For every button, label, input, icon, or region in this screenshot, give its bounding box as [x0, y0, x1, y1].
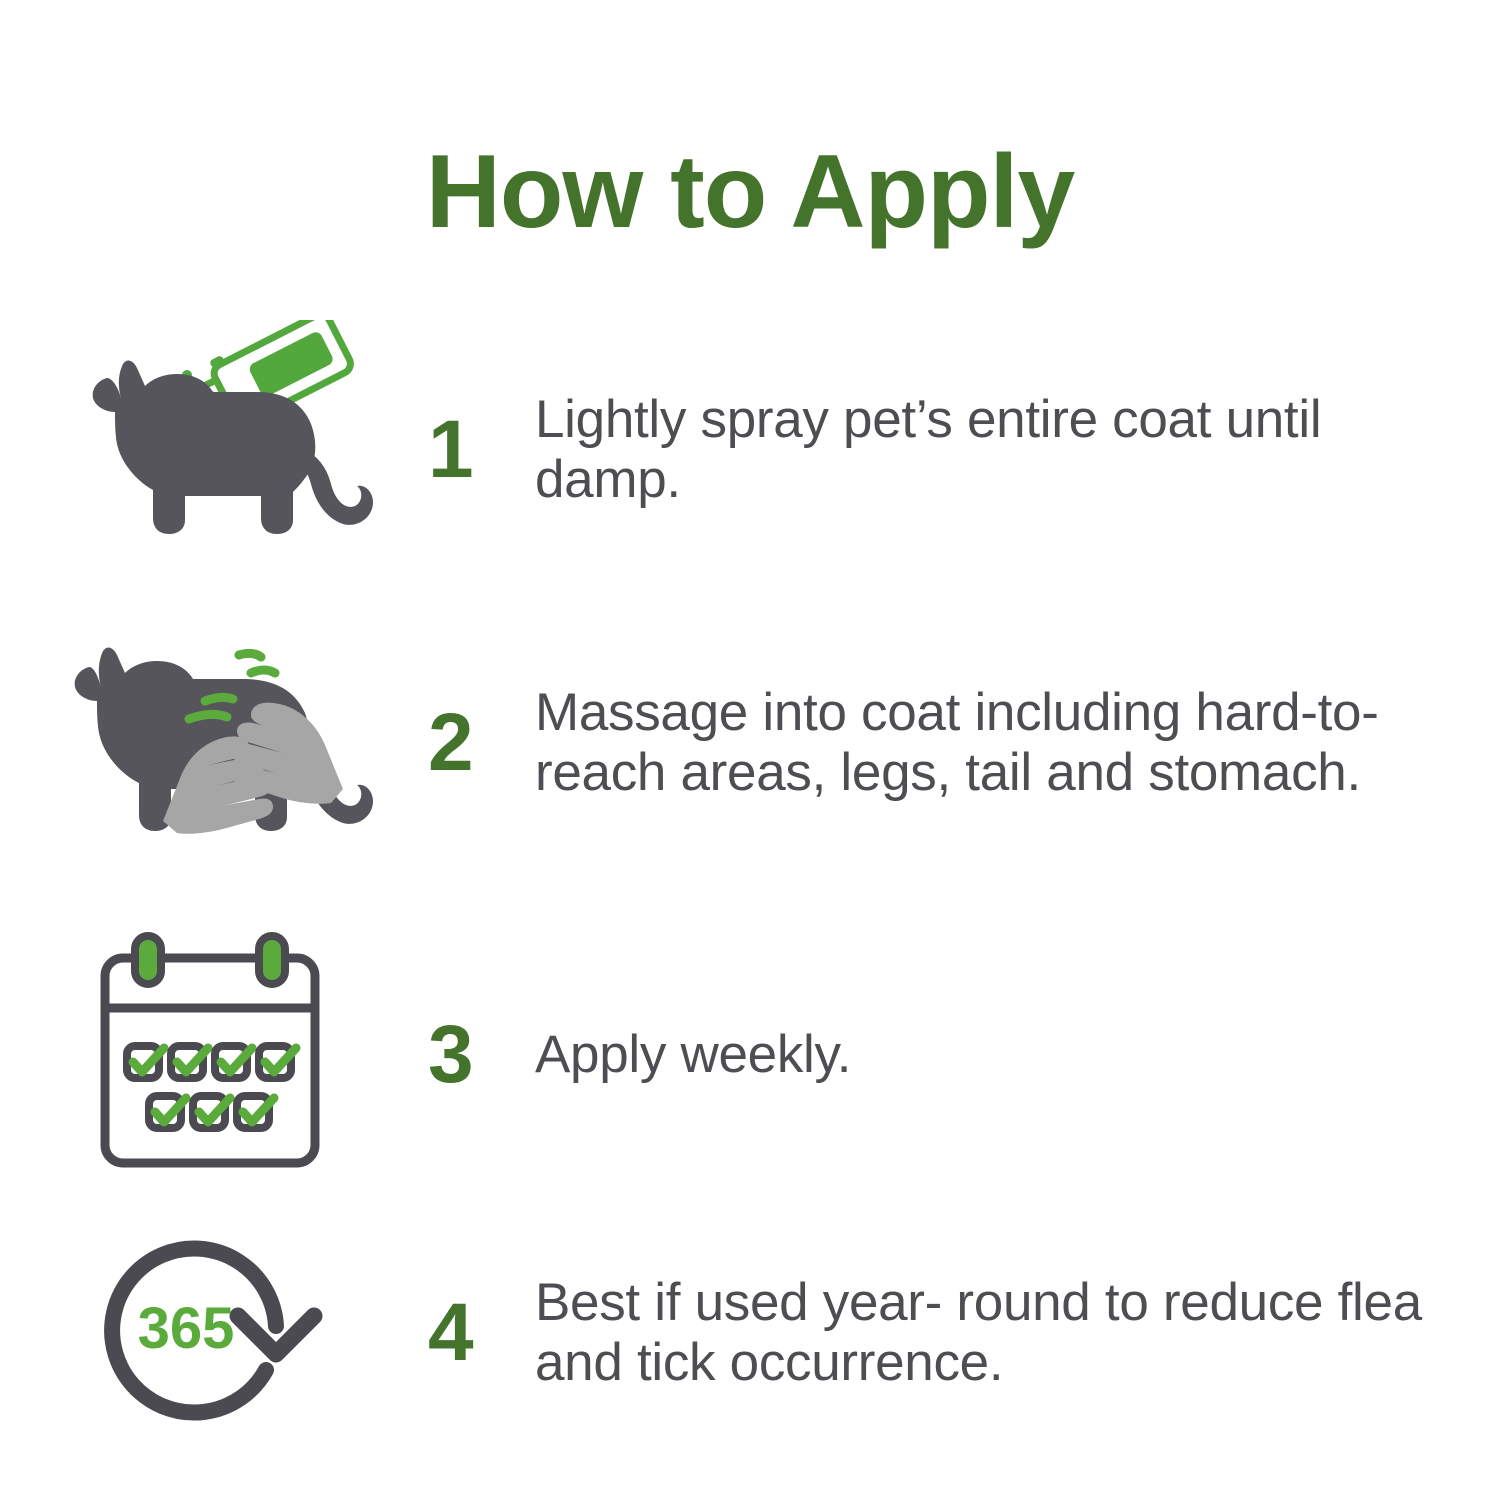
calendar-with-checkmarks-icon	[95, 928, 325, 1183]
step-2-number: 2	[420, 702, 535, 784]
step-4-number: 4	[420, 1292, 535, 1374]
cat-silhouette-icon	[93, 361, 373, 534]
step-row-2: 2 Massage into coat including hard-to-re…	[0, 620, 1500, 865]
step-2-text: Massage into coat including hard-to-reac…	[535, 683, 1500, 803]
cat-with-massaging-hands-icon	[43, 625, 378, 860]
step-4-text: Best if used year- round to reduce flea …	[535, 1273, 1500, 1393]
cycle-365-label: 365	[138, 1296, 235, 1361]
step-3-text: Apply weekly.	[535, 1025, 1500, 1085]
step-3-number: 3	[420, 1014, 535, 1096]
step-1-text: Lightly spray pet’s entire coat until da…	[535, 390, 1500, 510]
how-to-apply-infographic: How to Apply	[0, 0, 1500, 1500]
step-3-icon-cell	[0, 928, 420, 1183]
calendar-checkbox-row-2	[149, 1096, 274, 1128]
page-title: How to Apply	[0, 140, 1500, 244]
step-row-3: 3 Apply weekly.	[0, 920, 1500, 1190]
step-1-number: 1	[420, 409, 535, 491]
step-4-icon-cell: 365	[0, 1218, 420, 1448]
calendar-ring-left-icon	[135, 936, 161, 984]
step-row-4: 365 4 Best if used year- round to reduce…	[0, 1200, 1500, 1465]
year-round-365-cycle-icon: 365	[90, 1218, 330, 1448]
cat-with-spray-bottle-icon	[45, 320, 375, 580]
step-1-icon-cell	[0, 320, 420, 580]
step-2-icon-cell	[0, 625, 420, 860]
step-row-1: 1 Lightly spray pet’s entire coat until …	[0, 320, 1500, 580]
calendar-ring-right-icon	[259, 936, 285, 984]
calendar-checkbox-row-1	[127, 1046, 296, 1078]
